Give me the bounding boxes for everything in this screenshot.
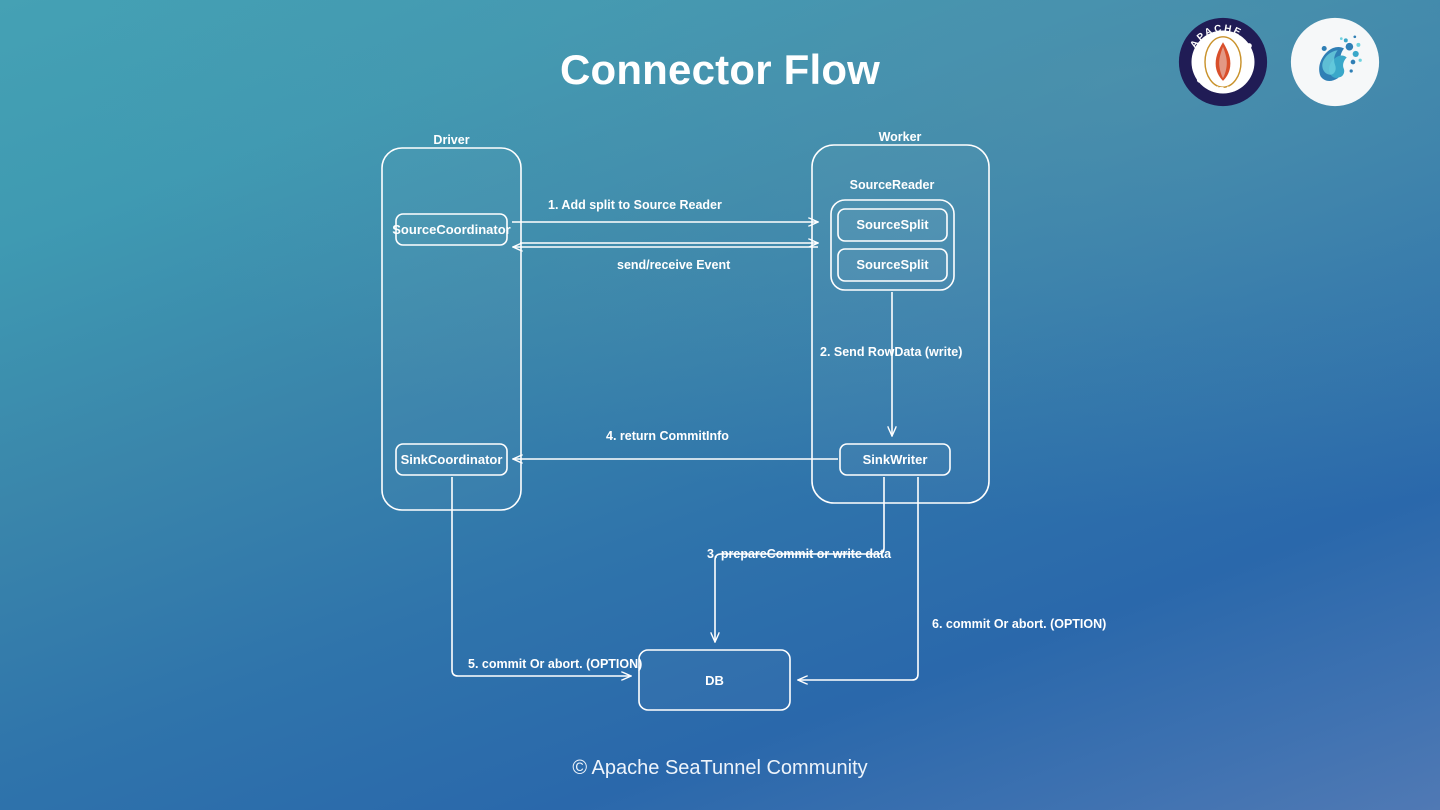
logo-group: APACHE INCUBATOR (1178, 17, 1380, 107)
connector-flow-diagram: Driver Worker SourceReader 1. Add split … (0, 0, 1440, 810)
node-label-sourcesplit-1: SourceSplit (856, 217, 929, 232)
node-sourcesplit-1[interactable]: SourceSplit (838, 209, 947, 241)
footer-text: © Apache SeaTunnel Community (0, 757, 1440, 780)
node-label-sourcesplit-2: SourceSplit (856, 257, 929, 272)
node-label-db: DB (705, 673, 724, 688)
node-label-sinkwriter: SinkWriter (863, 452, 928, 467)
apache-incubator-logo: APACHE INCUBATOR (1178, 17, 1268, 107)
node-db[interactable]: DB (639, 650, 790, 710)
edge-label-add-split: 1. Add split to Source Reader (548, 198, 722, 212)
edge-label-send-rowdata: 2. Send RowData (write) (820, 345, 962, 359)
edge-label-return-commitinfo: 4. return CommitInfo (606, 429, 729, 443)
edge-label-commit-abort-worker: 6. commit Or abort. (OPTION) (932, 617, 1106, 631)
edge-send-receive-event: send/receive Event (513, 243, 818, 272)
node-sinkcoordinator[interactable]: SinkCoordinator (396, 444, 507, 475)
edge-label-commit-abort-driver: 5. commit Or abort. (OPTION) (468, 657, 642, 671)
group-label-driver: Driver (433, 133, 469, 147)
group-label-worker: Worker (879, 130, 922, 144)
edge-label-preparecommit: 3. prepareCommit or write data (707, 547, 892, 561)
node-label-sinkcoordinator: SinkCoordinator (401, 452, 503, 467)
node-sourcecoordinator[interactable]: SourceCoordinator (392, 214, 510, 245)
node-sourcesplit-2[interactable]: SourceSplit (838, 249, 947, 281)
edge-commit-abort-worker: 6. commit Or abort. (OPTION) (798, 477, 1106, 680)
slide-canvas: Connector Flow APACHE INCUBATOR (0, 0, 1440, 810)
node-label-sourcecoordinator: SourceCoordinator (392, 222, 510, 237)
edge-label-send-receive-event: send/receive Event (617, 258, 731, 272)
group-label-sourcereader: SourceReader (850, 178, 935, 192)
edge-return-commitinfo: 4. return CommitInfo (513, 429, 838, 459)
edge-add-split: 1. Add split to Source Reader (512, 198, 818, 222)
node-sinkwriter[interactable]: SinkWriter (840, 444, 950, 475)
seatunnel-logo (1290, 17, 1380, 107)
